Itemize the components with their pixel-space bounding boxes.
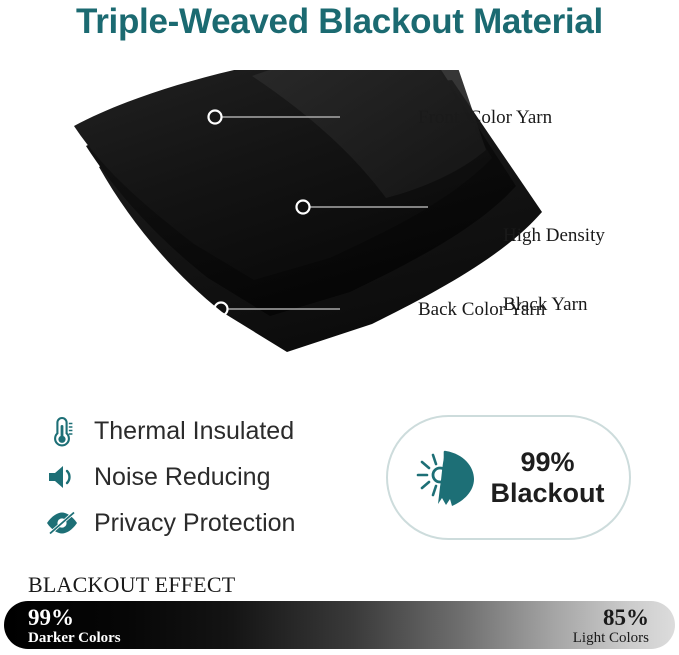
- blackout-badge-caption: Blackout: [490, 478, 604, 509]
- eye-off-icon: [42, 503, 82, 543]
- effect-left-percent: 99%: [28, 606, 121, 630]
- speaker-icon: [42, 457, 82, 497]
- blackout-effect-heading: BLACKOUT EFFECT: [28, 572, 235, 598]
- sun-blackout-curtain-icon: [412, 443, 484, 513]
- effect-left-group: 99% Darker Colors: [28, 606, 121, 647]
- blackout-badge-percent: 99%: [490, 447, 604, 478]
- feature-label-thermal: Thermal Insulated: [94, 417, 294, 446]
- page-title: Triple-Weaved Blackout Material: [0, 2, 679, 42]
- feature-list: Thermal Insulated Noise Reducing Privacy…: [42, 408, 362, 546]
- feature-item-thermal: Thermal Insulated: [42, 408, 362, 454]
- feature-label-privacy: Privacy Protection: [94, 509, 295, 538]
- feature-label-noise: Noise Reducing: [94, 463, 271, 492]
- callout-label-high-density-line1: High Density: [503, 224, 605, 247]
- blackout-badge-text: 99% Blackout: [490, 447, 604, 509]
- effect-left-caption: Darker Colors: [28, 630, 121, 647]
- effect-right-group: 85% Light Colors: [573, 606, 649, 647]
- feature-item-privacy: Privacy Protection: [42, 500, 362, 546]
- feature-item-noise: Noise Reducing: [42, 454, 362, 500]
- callout-label-back: Back Color Yarn: [418, 298, 545, 321]
- blackout-effect-gradient-bar: 99% Darker Colors 85% Light Colors: [4, 601, 675, 649]
- thermometer-icon: [42, 411, 82, 451]
- blackout-badge: 99% Blackout: [386, 415, 631, 540]
- callout-label-front: Front Color Yarn: [418, 106, 552, 129]
- effect-right-percent: 85%: [573, 606, 649, 630]
- effect-right-caption: Light Colors: [573, 630, 649, 647]
